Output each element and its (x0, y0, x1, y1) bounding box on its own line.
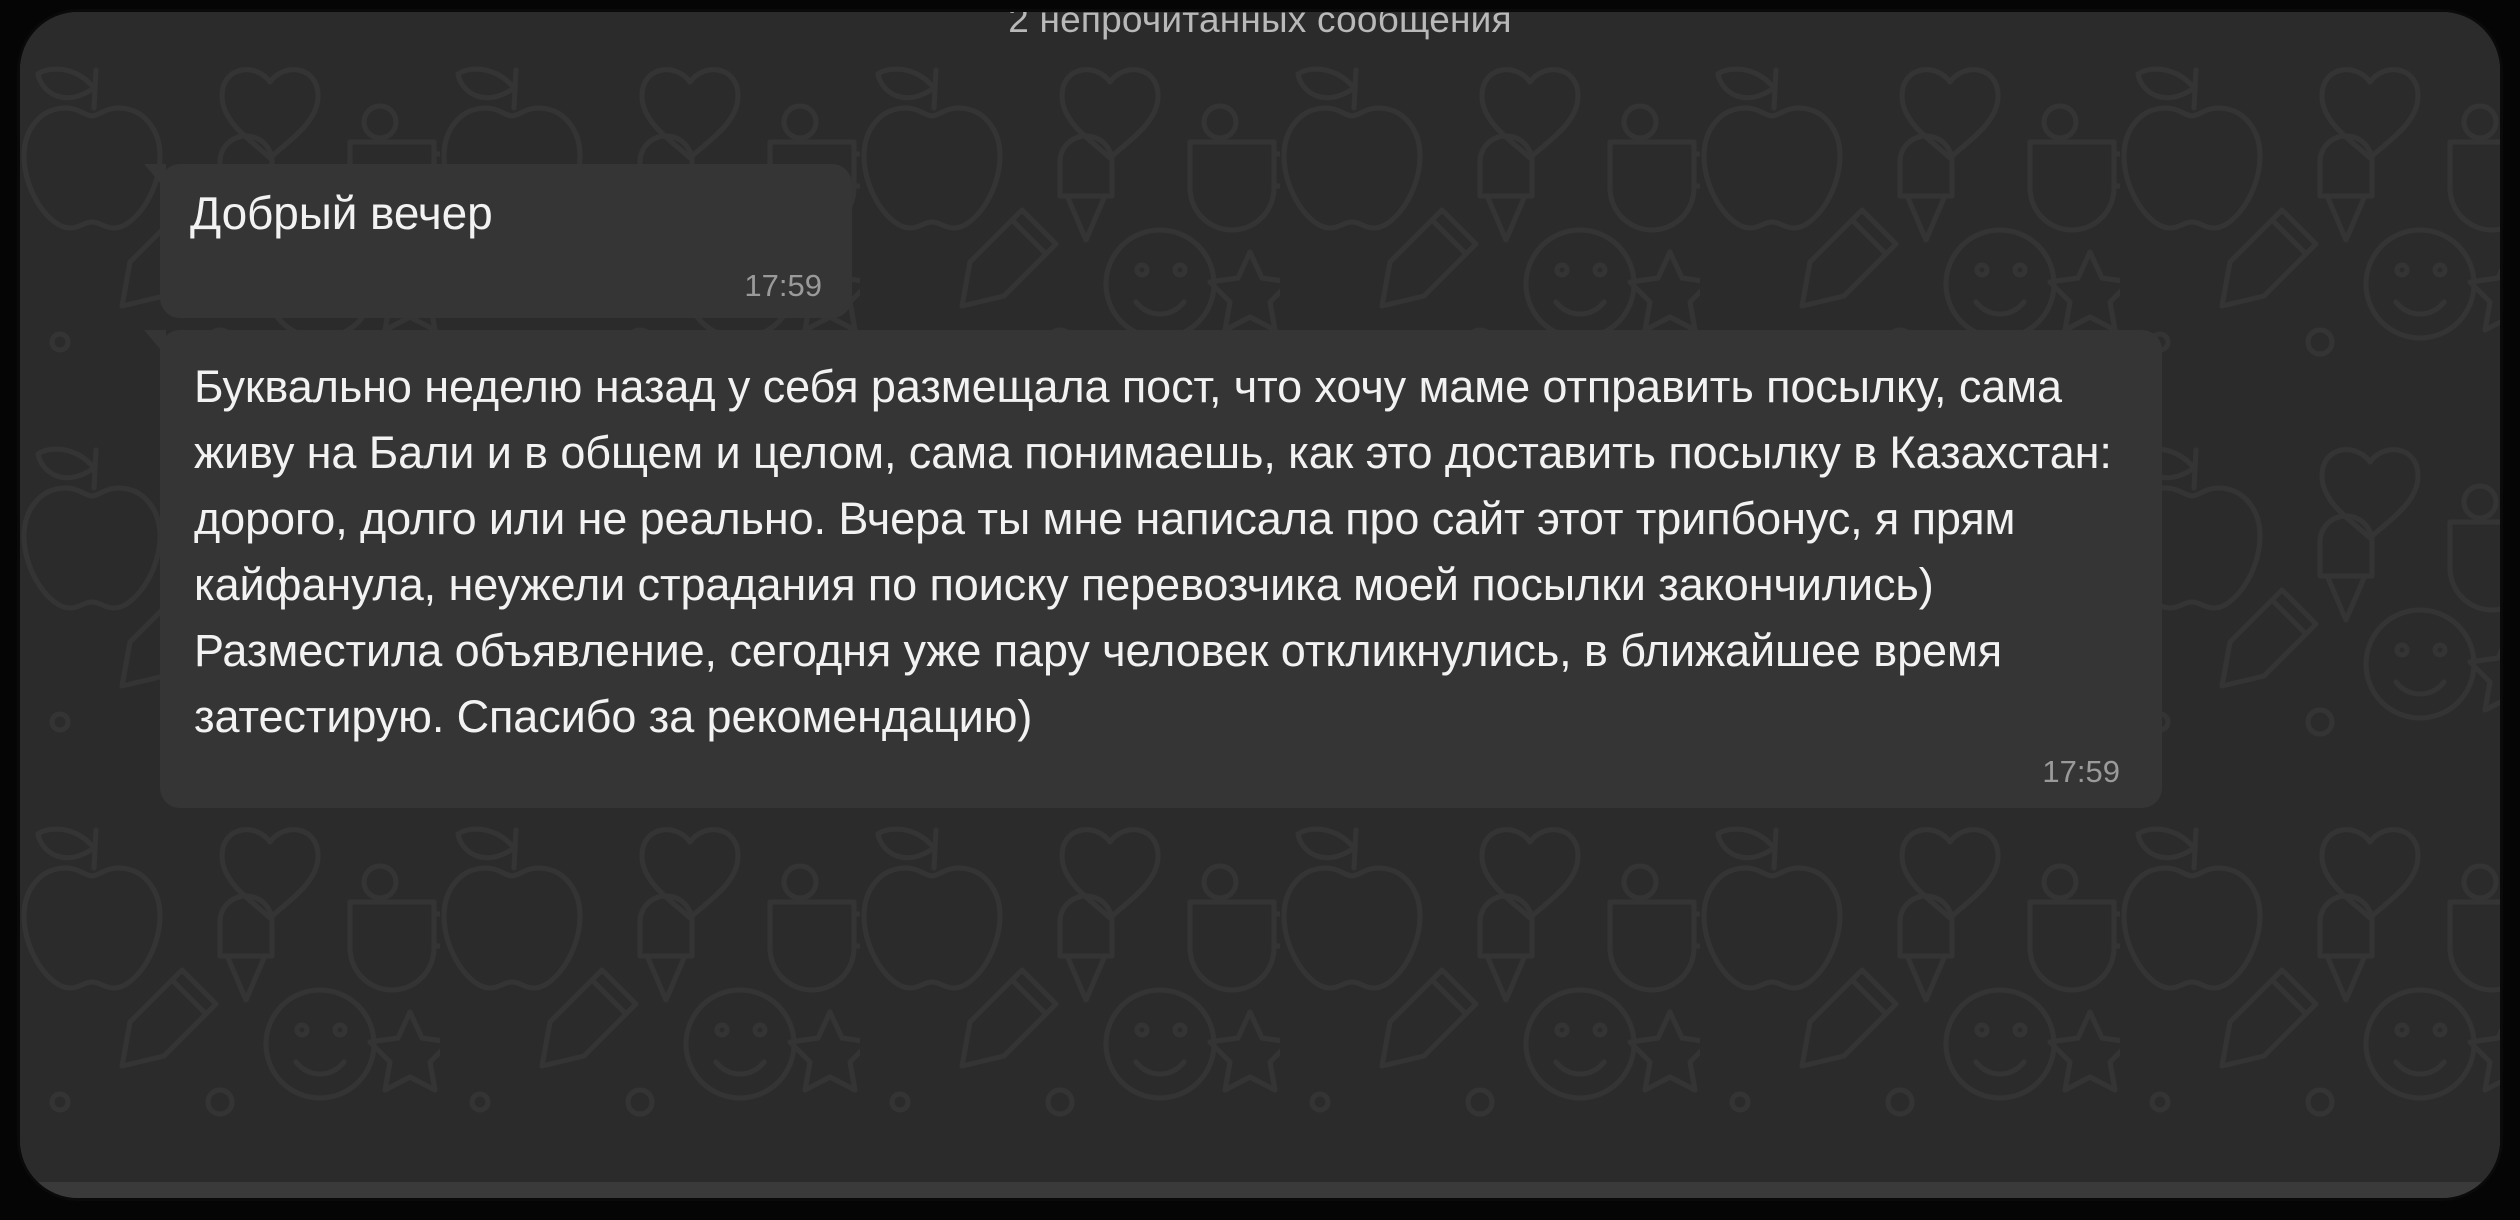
message-text: Буквально неделю назад у себя размещала … (194, 354, 2124, 750)
message-list: Добрый вечер 17:59 Буквально неделю наза… (20, 12, 2500, 1198)
message-row: Добрый вечер 17:59 (160, 164, 852, 318)
message-timestamp: 17:59 (2042, 754, 2120, 790)
unread-messages-divider: 2 непрочитанных сообщения (20, 12, 2500, 44)
message-row: Буквально неделю назад у себя размещала … (160, 330, 2162, 808)
message-bubble-long[interactable]: Буквально неделю назад у себя размещала … (160, 330, 2162, 808)
screenshot-root: 2 непрочитанных сообщения Добрый вечер 1… (0, 0, 2520, 1220)
message-text: Добрый вечер (190, 184, 493, 242)
message-timestamp: 17:59 (744, 268, 822, 304)
unread-messages-label: 2 непрочитанных сообщения (1008, 12, 1512, 44)
phone-screen-frame: 2 непрочитанных сообщения Добрый вечер 1… (20, 12, 2500, 1198)
message-bubble-greeting[interactable]: Добрый вечер 17:59 (160, 164, 852, 318)
